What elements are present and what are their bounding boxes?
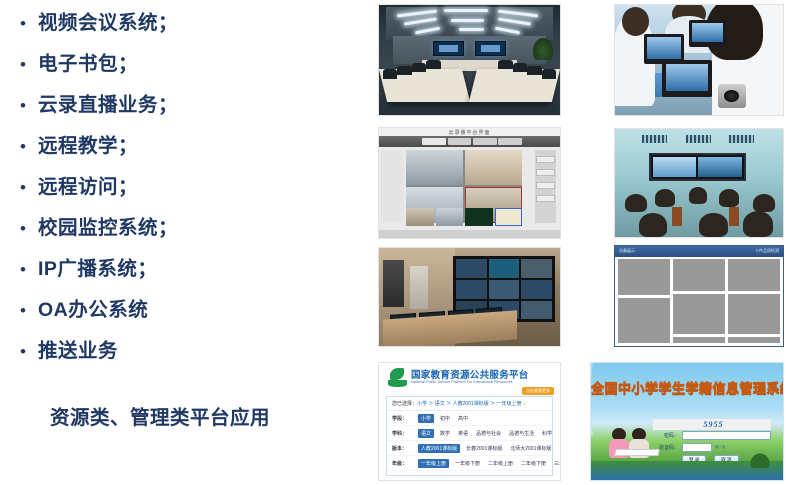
bullet-label: 远程教学；	[38, 129, 138, 158]
more-link-badge[interactable]: 点击查看更多	[522, 387, 554, 395]
bullet-label: 云录直播业务；	[38, 88, 178, 117]
filter-panel: 您已选择：小学 ＞ 语文 ＞ 人教2001课标版 ＞ 一年级上册 ☆ 学段： 小…	[386, 396, 553, 476]
password-input[interactable]	[682, 431, 771, 440]
students-illustration	[609, 418, 669, 458]
student-head	[689, 187, 707, 203]
open-book	[614, 449, 659, 456]
video-tile[interactable]	[406, 150, 463, 185]
bullet-marker-icon: •	[16, 220, 38, 237]
list-item: • 校园监控系统；	[16, 211, 372, 252]
student-head	[743, 211, 773, 237]
filter-option[interactable]: 初中	[438, 415, 452, 422]
bullet-marker-icon: •	[16, 343, 38, 360]
thumbnail[interactable]	[465, 208, 492, 226]
filter-option[interactable]: 品德与社会	[474, 430, 503, 437]
gallery-header: 设备展示 十件品质检测	[615, 246, 783, 257]
filter-label: 学科：	[392, 430, 414, 437]
tab-broadcast[interactable]	[473, 138, 497, 145]
platform-title: 国家教育资源公共服务平台	[411, 371, 529, 381]
breadcrumb-label: 您已选择：	[392, 401, 417, 407]
platform-logo-icon	[388, 368, 407, 387]
gallery-title-left: 设备展示	[619, 248, 635, 254]
thumbnail-selected[interactable]	[495, 208, 522, 226]
monitor-tile	[489, 259, 519, 278]
student-head	[622, 7, 649, 36]
monitor-tile	[521, 301, 551, 320]
control-button[interactable]	[536, 156, 554, 163]
filter-row-stage: 学段： 小学 初中 高中	[387, 411, 552, 426]
cloud-recording-platform-screenshot: 云录播平台界面	[378, 127, 561, 239]
filter-label: 版本：	[392, 445, 414, 452]
bullet-list: • 视频会议系统； • 电子书包； • 云录直播业务； • 远程教学； • 远程…	[0, 6, 372, 406]
status-bar	[379, 230, 560, 238]
edu-resource-platform-screenshot: 国家教育资源公共服务平台 National Public Service Pla…	[378, 362, 561, 481]
gallery-thumbnail[interactable]	[728, 259, 780, 291]
tab-vod[interactable]	[498, 138, 522, 145]
bullet-marker-icon: •	[16, 179, 38, 196]
ceiling-light	[451, 19, 484, 22]
filter-row-subject: 学科： 语文 数学 英语 品德与社会 品德与生活 科学	[387, 426, 552, 441]
filter-option-selected[interactable]: 小学	[418, 414, 434, 423]
server-rack	[383, 260, 405, 307]
thumbnail[interactable]	[406, 208, 433, 226]
dual-display-screens	[649, 153, 746, 181]
bullet-marker-icon: •	[16, 138, 38, 155]
chair	[383, 69, 397, 78]
equipment-gallery-screenshot: 设备展示 十件品质检测	[614, 245, 784, 347]
thumbnail-strip	[406, 208, 522, 226]
filter-option[interactable]: 二年级上册	[486, 460, 515, 467]
bullet-marker-icon: •	[16, 261, 38, 278]
gallery-column	[728, 259, 780, 343]
camera-device	[718, 84, 747, 108]
system-title: 全国中小学学生学籍信息管理系统	[591, 378, 783, 397]
monitor-tile	[456, 259, 486, 278]
chair-group	[379, 56, 560, 102]
gallery-thumbnail[interactable]	[673, 337, 725, 343]
list-item: • 云录直播业务；	[16, 88, 372, 129]
captcha-refresh-link[interactable]: 换一张	[715, 445, 726, 450]
student-head	[655, 189, 675, 206]
bullet-label: IP广播系统；	[38, 252, 157, 281]
platform-brand: 国家教育资源公共服务平台 National Public Service Pla…	[388, 368, 529, 387]
captcha-input[interactable]	[682, 443, 712, 452]
gallery-title-right: 十件品质检测	[755, 248, 779, 254]
projection-screen-left	[653, 157, 697, 177]
tablet-device	[689, 20, 726, 46]
chair	[426, 60, 440, 69]
list-item: • 远程访问；	[16, 170, 372, 211]
gallery-grid	[618, 259, 780, 343]
bullet-marker-icon: •	[16, 15, 38, 32]
ceiling-light	[729, 135, 754, 143]
filter-option[interactable]: 数学	[438, 430, 452, 437]
filter-option[interactable]: 科学	[540, 430, 554, 437]
thumbnail[interactable]	[436, 208, 463, 226]
filter-option[interactable]: 一年级下册	[453, 460, 482, 467]
filter-option[interactable]: 英语	[456, 430, 470, 437]
captcha-row: 验证码： 5955 换一张	[653, 443, 771, 452]
filter-label: 年级：	[392, 460, 414, 467]
chair	[397, 66, 411, 75]
bullet-label: 电子书包；	[38, 47, 138, 76]
bullet-label: 视频会议系统；	[38, 6, 178, 35]
breadcrumb-path[interactable]: 小学 ＞ 语文 ＞ 人教2001课标版 ＞ 一年级上册	[417, 401, 521, 407]
control-panel	[535, 150, 557, 223]
favorite-star-icon[interactable]: ☆	[523, 401, 527, 407]
control-button[interactable]	[536, 169, 554, 176]
filter-option[interactable]: 二年级下册	[519, 460, 548, 467]
bullet-label: OA办公系统	[38, 293, 148, 322]
bullet-label: 推送业务	[38, 334, 118, 363]
monitor-tile	[521, 259, 551, 278]
monitor-tile	[456, 280, 486, 299]
students-using-tablets-photo	[614, 4, 784, 116]
gallery-thumbnail[interactable]	[673, 259, 725, 291]
ceiling-light	[686, 135, 711, 143]
chair	[527, 66, 541, 75]
bullet-marker-icon: •	[16, 97, 38, 114]
bullet-marker-icon: •	[16, 302, 38, 319]
display-screen-left	[433, 41, 464, 55]
gallery-thumbnail[interactable]	[618, 259, 670, 295]
channel-list-pane[interactable]	[381, 150, 403, 223]
video-conference-room-photo	[378, 4, 561, 116]
filter-label: 学段：	[392, 415, 414, 422]
list-item: • IP广播系统；	[16, 252, 372, 293]
slide-canvas: • 视频会议系统； • 电子书包； • 云录直播业务； • 远程教学； • 远程…	[0, 0, 786, 485]
list-item: • 视频会议系统；	[16, 6, 372, 47]
tablet-device	[662, 60, 712, 97]
filter-option-selected[interactable]: 一年级上册	[418, 459, 449, 468]
surveillance-control-room-photo	[378, 247, 561, 347]
list-item: • OA办公系统	[16, 293, 372, 334]
chair	[513, 63, 527, 72]
tab-live-monitor[interactable]	[422, 138, 446, 145]
gallery-column	[673, 259, 725, 343]
gallery-thumbnail[interactable]	[618, 298, 670, 343]
equipment-cabinet	[410, 266, 428, 309]
control-button[interactable]	[536, 195, 554, 202]
filter-option[interactable]: 品德与生活	[507, 430, 536, 437]
student-head	[639, 213, 668, 237]
bullet-label: 校园监控系统；	[38, 211, 178, 240]
student-head	[699, 213, 728, 237]
list-item: • 电子书包；	[16, 47, 372, 88]
gallery-column	[618, 259, 670, 343]
filter-option[interactable]: 长春2001课标版	[464, 445, 504, 452]
password-row: 密码：	[653, 431, 771, 440]
student-head	[625, 194, 647, 212]
filter-row-edition: 版本： 人教2001课标版 长春2001课标版 北师大2001课标版 苏教版	[387, 441, 552, 456]
filter-option-selected[interactable]: 语文	[418, 429, 434, 438]
gallery-thumbnail[interactable]	[728, 294, 780, 334]
filter-option-selected[interactable]: 人教2001课标版	[418, 444, 460, 453]
bullet-marker-icon: •	[16, 56, 38, 73]
chair	[412, 63, 426, 72]
chair	[498, 60, 512, 69]
ceiling-light	[459, 28, 484, 31]
bush-decoration	[749, 452, 771, 468]
list-item: • 推送业务	[16, 334, 372, 375]
platform-subtitle: National Public Service Platform For Edu…	[411, 380, 529, 384]
student-status-system-screenshot: 全国中小学学生学籍信息管理系统 用户名： 密码： 验证码： 5955 换一张 登…	[590, 362, 784, 481]
chair	[729, 207, 739, 226]
list-item: • 远程教学；	[16, 129, 372, 170]
video-tile[interactable]	[465, 150, 522, 185]
display-screen-right	[475, 41, 506, 55]
remote-teaching-classroom-photo	[614, 128, 784, 238]
captcha-image-text: 5955	[653, 419, 771, 430]
control-button[interactable]	[536, 182, 554, 189]
chair	[672, 207, 682, 226]
filter-option[interactable]: 三年级上册	[552, 460, 561, 467]
chair	[542, 69, 556, 78]
monitor-tile	[489, 280, 519, 299]
breadcrumb: 您已选择：小学 ＞ 语文 ＞ 人教2001课标版 ＞ 一年级上册 ☆	[387, 397, 552, 411]
monitor-tile	[521, 280, 551, 299]
filter-row-grade: 年级： 一年级上册 一年级下册 二年级上册 二年级下册 三年级上册	[387, 456, 552, 471]
student-head	[719, 189, 739, 206]
bullet-label: 远程访问；	[38, 170, 138, 199]
gallery-thumbnail[interactable]	[728, 337, 780, 343]
filter-option[interactable]: 高中	[456, 415, 470, 422]
gallery-thumbnail[interactable]	[673, 294, 725, 334]
ceiling-light	[642, 135, 667, 143]
filter-option[interactable]: 苏教版	[557, 445, 561, 452]
filter-option[interactable]: 北师大2001课标版	[508, 445, 553, 452]
ceiling-light	[444, 9, 487, 12]
tab-record[interactable]	[448, 138, 472, 145]
projection-screen-right	[698, 157, 742, 177]
student-head	[753, 194, 775, 212]
section-heading: 资源类、管理类平台应用	[50, 401, 270, 430]
